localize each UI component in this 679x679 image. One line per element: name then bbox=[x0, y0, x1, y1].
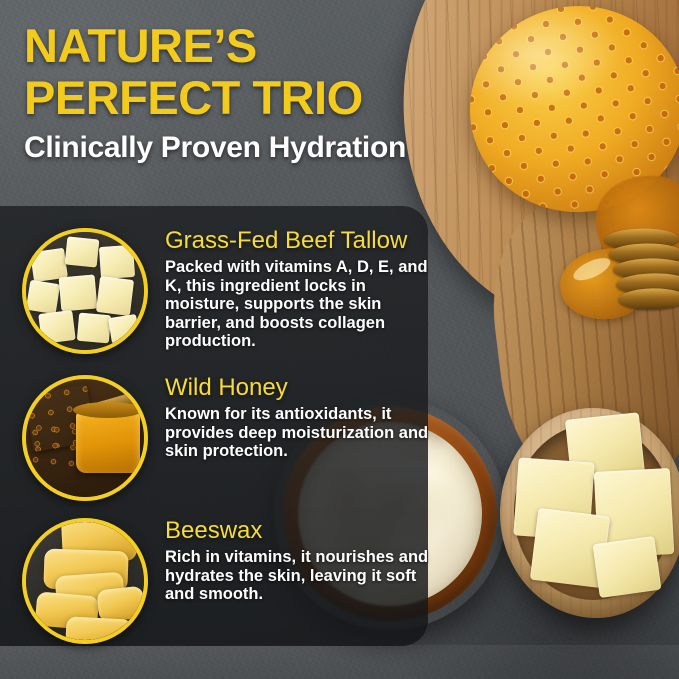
ingredient-title: Grass-Fed Beef Tallow bbox=[165, 228, 437, 254]
headline-block: NATURE’S PERFECT TRIO Clinically Proven … bbox=[24, 22, 474, 164]
ingredient-text-beeswax: Beeswax Rich in vitamins, it nourishes a… bbox=[165, 518, 437, 604]
ingredient-row-beeswax: Beeswax Rich in vitamins, it nourishes a… bbox=[22, 518, 437, 644]
honey-jar-icon bbox=[26, 379, 144, 497]
ingredient-description: Rich in vitamins, it nourishes and hydra… bbox=[165, 548, 437, 604]
ingredient-description: Known for its antioxidants, it provides … bbox=[165, 405, 437, 461]
ingredient-text-honey: Wild Honey Known for its antioxidants, i… bbox=[165, 375, 437, 461]
product-infographic: NATURE’S PERFECT TRIO Clinically Proven … bbox=[0, 0, 679, 679]
headline-subtitle: Clinically Proven Hydration bbox=[24, 132, 474, 164]
ingredient-thumbnail-honey bbox=[22, 375, 148, 501]
ingredient-description: Packed with vitamins A, D, E, and K, thi… bbox=[165, 258, 437, 351]
ingredient-row-tallow: Grass-Fed Beef Tallow Packed with vitami… bbox=[22, 228, 437, 354]
dipper-ring bbox=[618, 288, 679, 310]
tallow-cubes-icon bbox=[26, 232, 144, 350]
headline-line-2: PERFECT TRIO bbox=[24, 74, 474, 121]
ingredient-title: Beeswax bbox=[165, 518, 437, 544]
headline-line-1: NATURE’S bbox=[24, 22, 474, 69]
ingredient-row-honey: Wild Honey Known for its antioxidants, i… bbox=[22, 375, 437, 501]
tallow-cube bbox=[593, 536, 662, 598]
background-seam bbox=[0, 645, 679, 679]
ingredient-title: Wild Honey bbox=[165, 375, 437, 401]
ingredient-thumbnail-beeswax bbox=[22, 518, 148, 644]
tallow-bowl-image bbox=[500, 408, 679, 618]
ingredient-thumbnail-tallow bbox=[22, 228, 148, 354]
honey-jar bbox=[76, 409, 140, 473]
beeswax-discs-icon bbox=[26, 522, 144, 640]
ingredient-text-tallow: Grass-Fed Beef Tallow Packed with vitami… bbox=[165, 228, 437, 351]
honey-dipper-image bbox=[552, 212, 679, 347]
dipper-head bbox=[604, 226, 679, 319]
